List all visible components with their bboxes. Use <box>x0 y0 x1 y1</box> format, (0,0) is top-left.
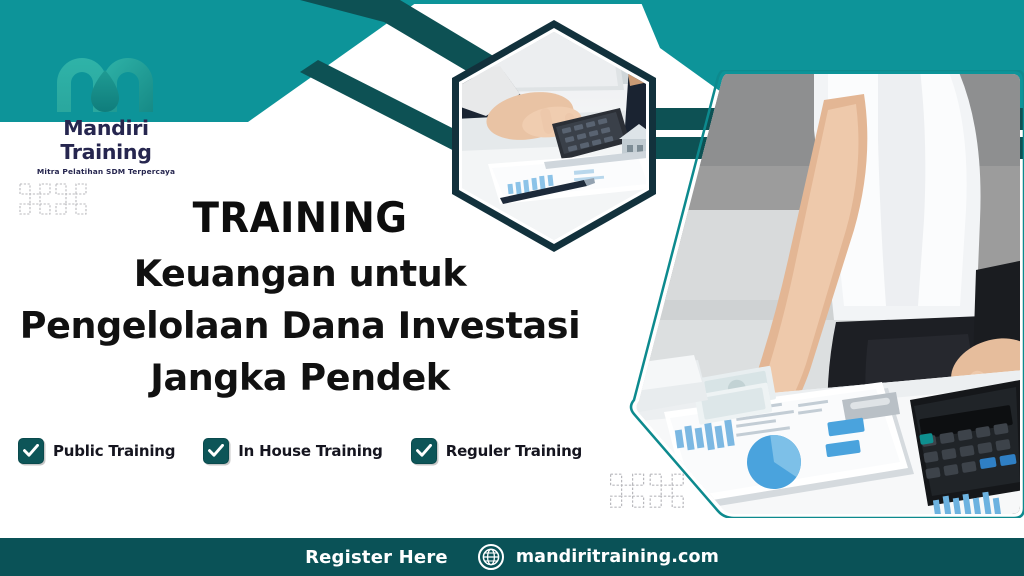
right-feature-photo <box>628 70 1024 518</box>
website-url[interactable]: mandiritraining.com <box>516 547 719 567</box>
website-group[interactable]: mandiritraining.com <box>478 544 719 570</box>
checkbox-label: Reguler Training <box>446 442 582 460</box>
footer-bar: Register Here mandiritraining.com <box>0 538 1024 576</box>
checkbox-label: In House Training <box>238 442 382 460</box>
checkbox-item-in-house-training[interactable]: In House Training <box>203 438 382 464</box>
poster-canvas: Mandiri Training Mitra Pelatihan SDM Ter… <box>0 0 1024 576</box>
globe-icon <box>478 544 504 570</box>
checkbox-checked-icon[interactable] <box>411 438 437 464</box>
headline-title: Keuangan untuk Pengelolaan Dana Investas… <box>0 248 600 403</box>
brand-logo: Mandiri Training Mitra Pelatihan SDM Ter… <box>18 52 194 176</box>
checkbox-item-reguler-training[interactable]: Reguler Training <box>411 438 582 464</box>
checkbox-item-public-training[interactable]: Public Training <box>18 438 175 464</box>
training-type-list: Public Training In House Training Regule… <box>18 438 582 464</box>
checkbox-checked-icon[interactable] <box>203 438 229 464</box>
checkbox-checked-icon[interactable] <box>18 438 44 464</box>
checkbox-label: Public Training <box>53 442 175 460</box>
mandiri-m-logo-icon <box>51 52 161 114</box>
register-here-label[interactable]: Register Here <box>305 547 448 568</box>
brand-name: Mandiri Training <box>18 116 194 164</box>
brand-tagline: Mitra Pelatihan SDM Terpercaya <box>18 167 194 176</box>
